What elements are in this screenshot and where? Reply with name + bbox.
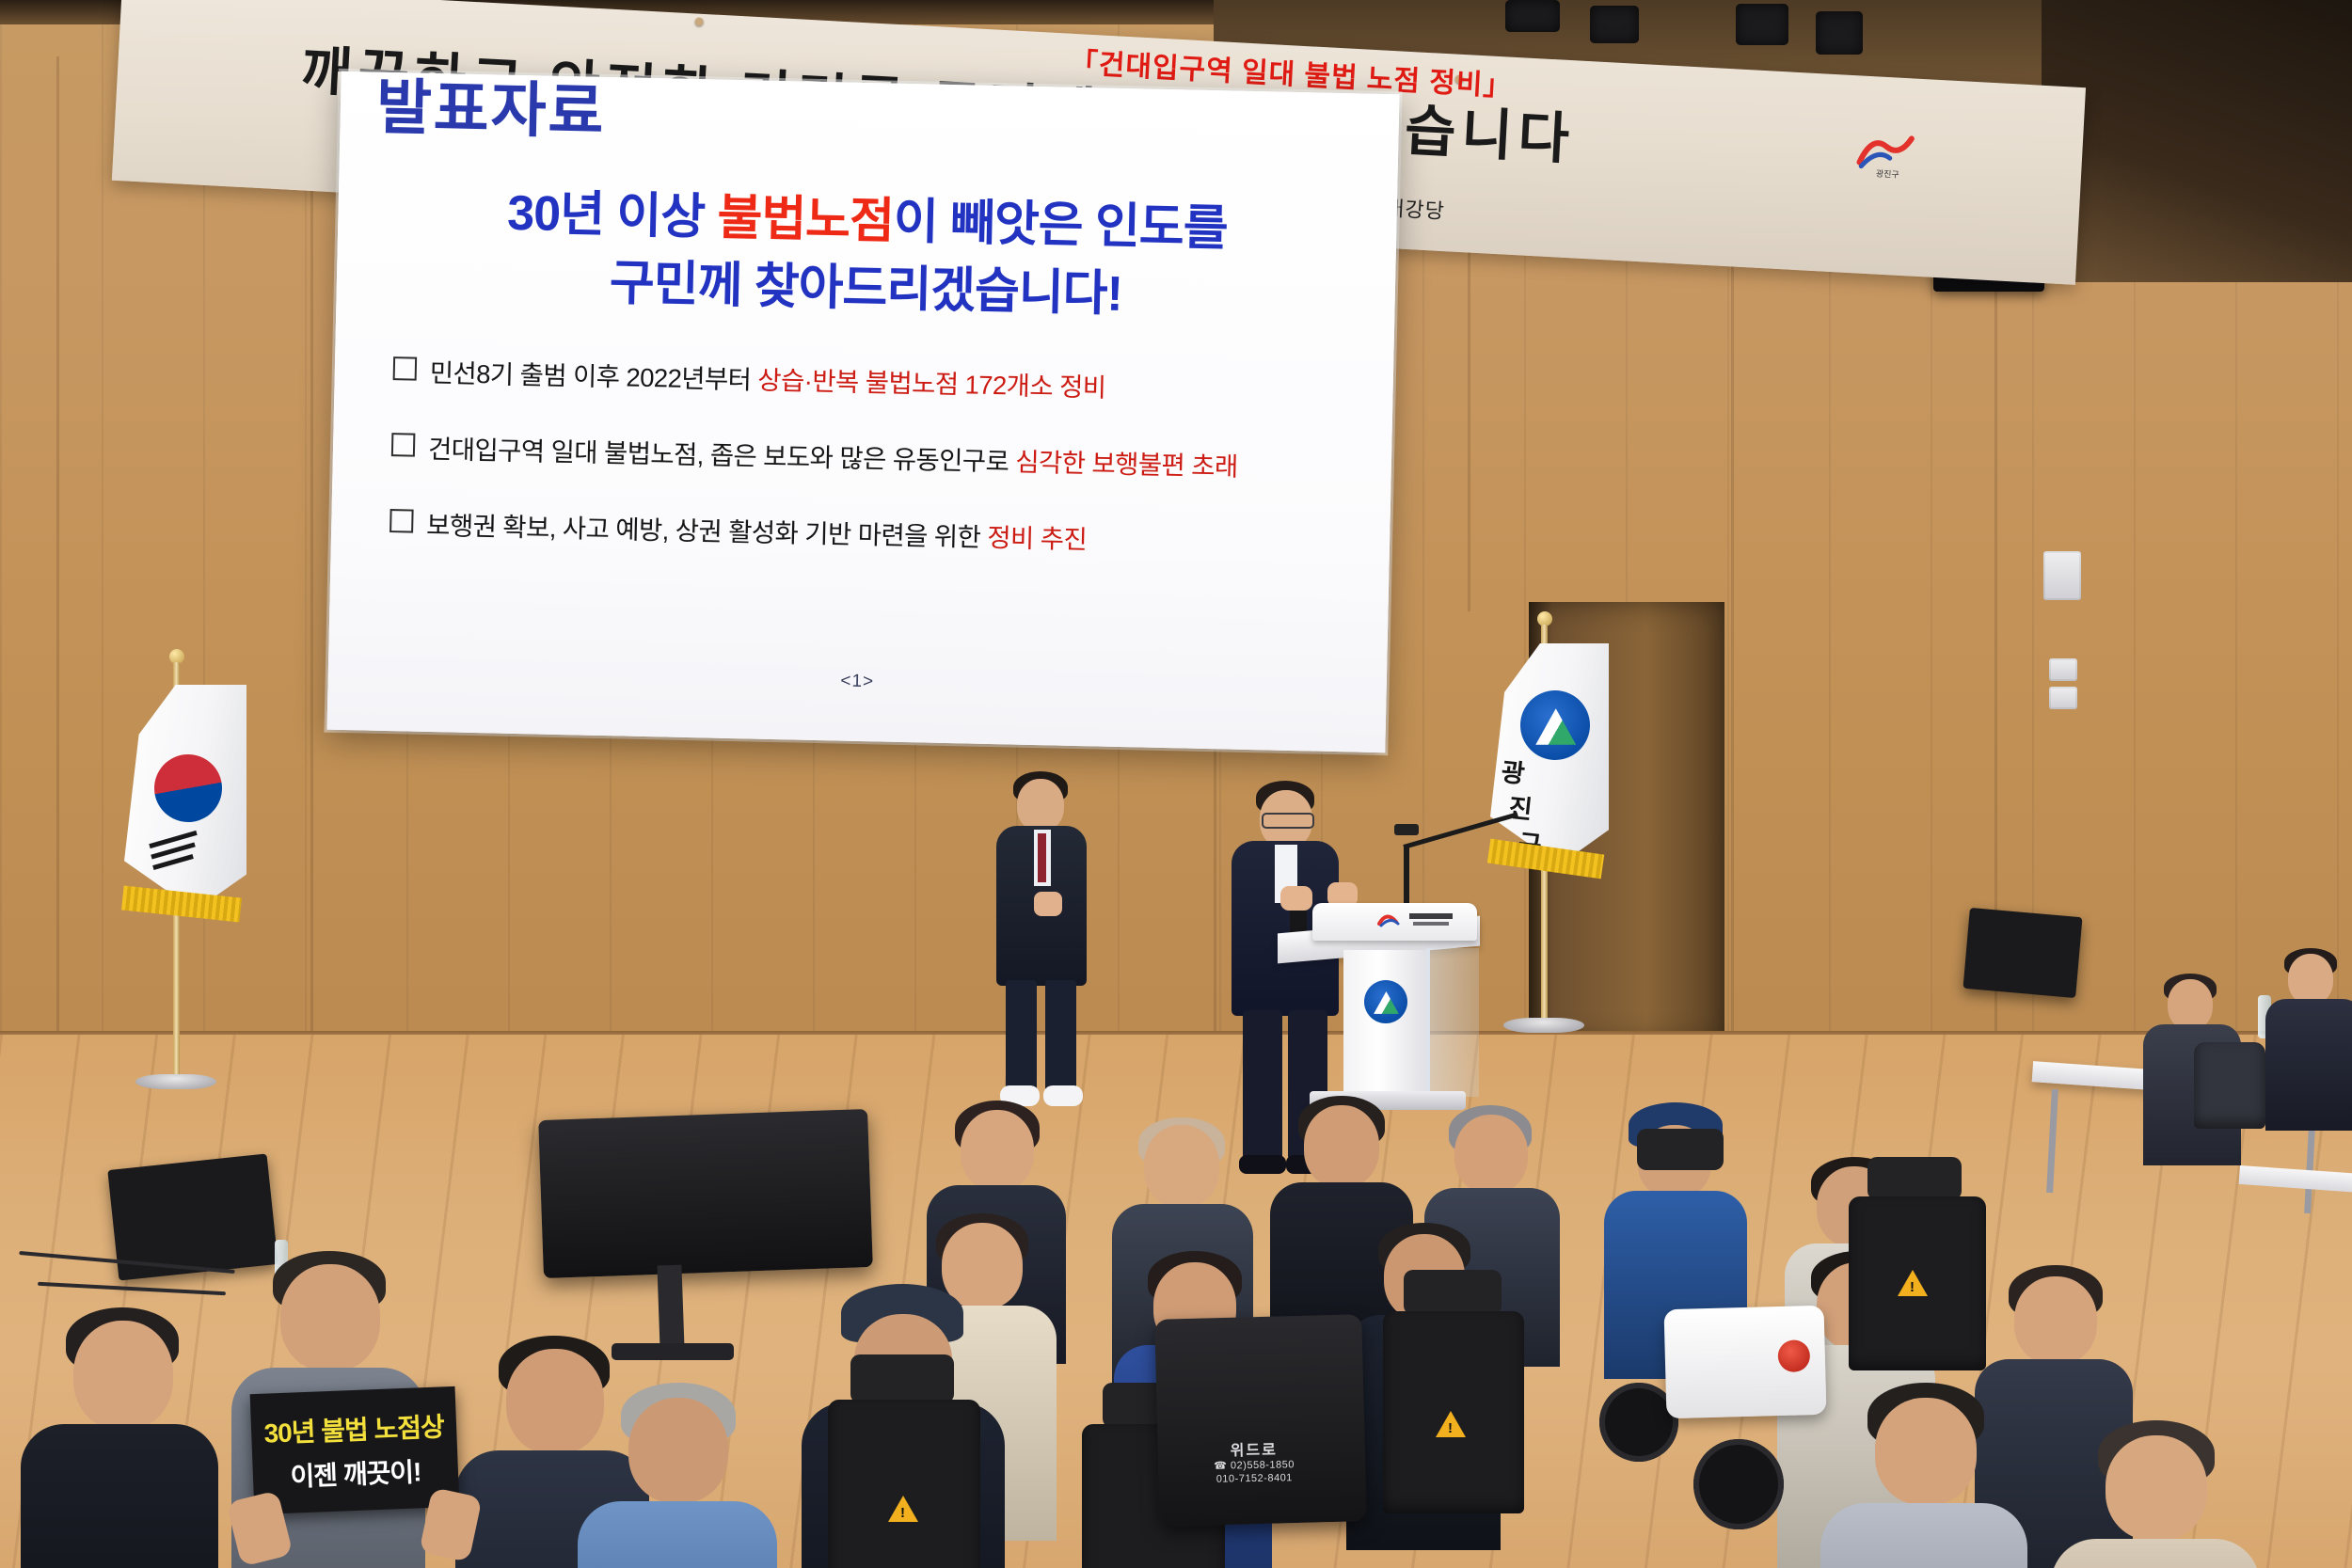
bullet-text: 보행권 확보, 사고 예방, 상권 활성화 기반 마련을 위한 정비 추진 [426,504,1088,556]
projection-screen: 발표자료 30년 이상 불법노점이 빼앗은 인도를 구민께 찾아드리겠습니다! … [326,71,1399,752]
flag-text-1: 광 [1500,752,1527,790]
wall-vent [2043,551,2081,600]
ceiling-light [1736,4,1788,45]
placard-line-1: 30년 불법 노점상 [263,1406,445,1450]
gwangjin-gu-brand-logo-icon: 광진구 [1851,124,1924,181]
warning-triangle-icon [1898,1270,1928,1296]
placard-line-2: 이젠 깨끗이! [290,1451,421,1494]
mobility-bag [1154,1314,1367,1527]
podium-acrylic-panel [1426,948,1479,1097]
bag-phone-2: 010-7152-8401 [1184,1471,1325,1486]
bag-brand-name: 위드로 [1184,1436,1325,1462]
gwangjin-gu-logo-icon [1520,690,1590,760]
scooter-wheel [1693,1439,1784,1529]
bullet-black-text: 보행권 확보, 사고 예방, 상권 활성화 기반 마련을 위한 [426,511,988,552]
podium-column [1343,950,1430,1101]
stage-confidence-monitor [538,1109,873,1278]
auditorium-press-conference-scene: 「건대입구역 일대 불법 노점 정비」 깨끗하고 안전한 거리를 구민께 돌려드… [0,0,2352,1568]
bullet-red-text: 심각한 보행불편 초래 [1015,448,1238,482]
protest-placard: 30년 불법 노점상 이젠 깨끗이! [250,1386,460,1514]
gwangjin-gu-wordmark-icon [1374,909,1460,929]
warning-triangle-icon [888,1496,918,1522]
wall-seam [310,56,313,1053]
slide-bullet-item: 민선8기 출범 이후 2022년부터 상습·반복 불법노점 172개소 정비 [392,351,1343,409]
eyeglasses-icon [1262,813,1314,829]
bullet-black-text: 민선8기 출범 이후 2022년부터 [429,358,757,395]
slide-bullet-item: 건대입구역 일대 불법노점, 좁은 보도와 많은 유동인구로 심각한 보행불편 … [391,427,1343,485]
flag-text-2: 진 [1507,787,1534,826]
flag-base [135,1074,216,1089]
bullet-text: 민선8기 출범 이후 2022년부터 상습·반복 불법노점 172개소 정비 [429,352,1106,404]
headline-part-highlight: 불법노점 [717,191,895,249]
presentation-slide: 발표자료 30년 이상 불법노점이 빼앗은 인도를 구민께 찾아드리겠습니다! … [326,71,1399,752]
slide-bullet-item: 보행권 확보, 사고 예방, 상권 활성화 기반 마련을 위한 정비 추진 [389,503,1341,562]
dark-corner-shadow [2042,0,2352,282]
slide-ghost-title: 발표자료 [375,59,606,150]
interpreter-hands [1034,892,1062,916]
ceiling-light [1505,0,1560,32]
checkbox-icon [391,433,416,457]
flag-base [1503,1018,1584,1033]
headline-part-c: 이 빼앗은 인도를 [893,195,1228,257]
wall-seam [56,56,59,1053]
bullet-red-text: 상습·반복 불법노점 172개소 정비 [757,366,1106,403]
slide-page-indicator: <1> [328,660,1387,705]
wall-switch-panel[interactable] [2049,658,2077,681]
monitor-base [612,1343,734,1360]
floor-monitor-speaker [1963,908,2082,998]
gwangjin-gu-emblem-icon [1364,980,1407,1023]
wall-switch-panel[interactable] [2049,687,2077,709]
bullet-black-text: 건대입구역 일대 불법노점, 좁은 보도와 많은 유동인구로 [428,435,1016,477]
bullet-red-text: 정비 추진 [987,523,1087,554]
banner-pin [694,17,703,25]
ceiling-light [1590,6,1639,43]
checkbox-icon [393,356,418,381]
headline-part-a: 30년 이상 [507,186,718,245]
warning-triangle-icon [1436,1411,1466,1437]
checkbox-icon [389,509,414,533]
monitor-neck [657,1265,684,1351]
ceiling-light [1816,11,1863,55]
slide-bullet-list: 민선8기 출범 이후 2022년부터 상습·반복 불법노점 172개소 정비 건… [389,351,1343,600]
scooter-rear-storage-box [1664,1306,1827,1418]
svg-text:광진구: 광진구 [1876,167,1899,179]
bullet-text: 건대입구역 일대 불법노점, 좁은 보도와 많은 유동인구로 심각한 보행불편 … [428,428,1238,483]
microphone-head-icon [1394,824,1419,835]
mobility-bag-branding: 위드로 ☎ 02)558-1850 010-7152-8401 [1184,1436,1326,1487]
